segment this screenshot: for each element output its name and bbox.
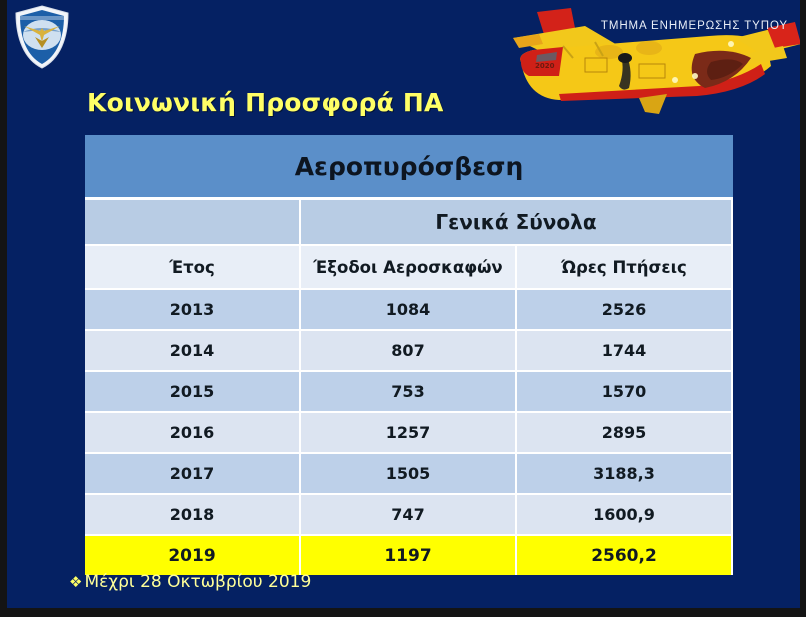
table-row: 2016 1257 2895 <box>85 413 733 454</box>
cell-year: 2016 <box>85 413 301 454</box>
aeropyrosvesi-table: Αεροπυρόσβεση Γενικά Σύνολα Έτος Έξοδοι … <box>85 135 733 575</box>
cell-hours: 1744 <box>517 331 733 372</box>
table-group-header-row: Γενικά Σύνολα <box>85 200 733 246</box>
cell-hours: 2560,2 <box>517 536 733 575</box>
table-row: 2014 807 1744 <box>85 331 733 372</box>
table-row: 2018 747 1600,9 <box>85 495 733 536</box>
table-row: 2017 1505 3188,3 <box>85 454 733 495</box>
table-row: 2013 1084 2526 <box>85 290 733 331</box>
cell-hours: 2895 <box>517 413 733 454</box>
table-column-header-row: Έτος Έξοδοι Αεροσκαφών Ώρες Πτήσεις <box>85 246 733 290</box>
group-header-blank-cell <box>85 200 301 246</box>
column-header-year: Έτος <box>85 246 301 290</box>
statistics-table: Αεροπυρόσβεση Γενικά Σύνολα Έτος Έξοδοι … <box>85 135 733 575</box>
press-office-label: ΤΜΗΜΑ ΕΝΗΜΕΡΩΣΗΣ ΤΥΠΟΥ <box>601 20 788 32</box>
cell-hours: 2526 <box>517 290 733 331</box>
cell-year: 2014 <box>85 331 301 372</box>
column-header-hours: Ώρες Πτήσεις <box>517 246 733 290</box>
group-header-cell: Γενικά Σύνολα <box>301 200 733 246</box>
cell-year: 2018 <box>85 495 301 536</box>
cell-sorties: 1257 <box>301 413 517 454</box>
cell-sorties: 1197 <box>301 536 517 575</box>
table-row: 2015 753 1570 <box>85 372 733 413</box>
table-title-row: Αεροπυρόσβεση <box>85 135 733 200</box>
cell-sorties: 1505 <box>301 454 517 495</box>
cell-year: 2015 <box>85 372 301 413</box>
cell-sorties: 747 <box>301 495 517 536</box>
footnote: ❖Μέχρι 28 Οκτωβρίου 2019 <box>69 572 311 592</box>
cell-sorties: 807 <box>301 331 517 372</box>
page-title: Κοινωνική Προσφορά ΠΑ <box>87 88 444 117</box>
table-row-highlighted: 2019 1197 2560,2 <box>85 536 733 575</box>
cell-year: 2019 <box>85 536 301 575</box>
hellenic-air-force-emblem-icon <box>13 4 71 70</box>
cell-year: 2017 <box>85 454 301 495</box>
cell-hours: 1600,9 <box>517 495 733 536</box>
slide-canvas: 2020 ΤΜΗΜΑ ΕΝΗΜΕΡΩΣΗΣ ΤΥΠΟΥ Κοινωνική Πρ… <box>0 0 806 617</box>
column-header-sorties: Έξοδοι Αεροσκαφών <box>301 246 517 290</box>
cell-sorties: 753 <box>301 372 517 413</box>
cell-sorties: 1084 <box>301 290 517 331</box>
svg-text:2020: 2020 <box>535 62 555 70</box>
footnote-text: Μέχρι 28 Οκτωβρίου 2019 <box>84 572 311 592</box>
table-title-cell: Αεροπυρόσβεση <box>85 135 733 200</box>
diamond-bullet-icon: ❖ <box>69 573 82 591</box>
cell-hours: 1570 <box>517 372 733 413</box>
cell-year: 2013 <box>85 290 301 331</box>
cell-hours: 3188,3 <box>517 454 733 495</box>
